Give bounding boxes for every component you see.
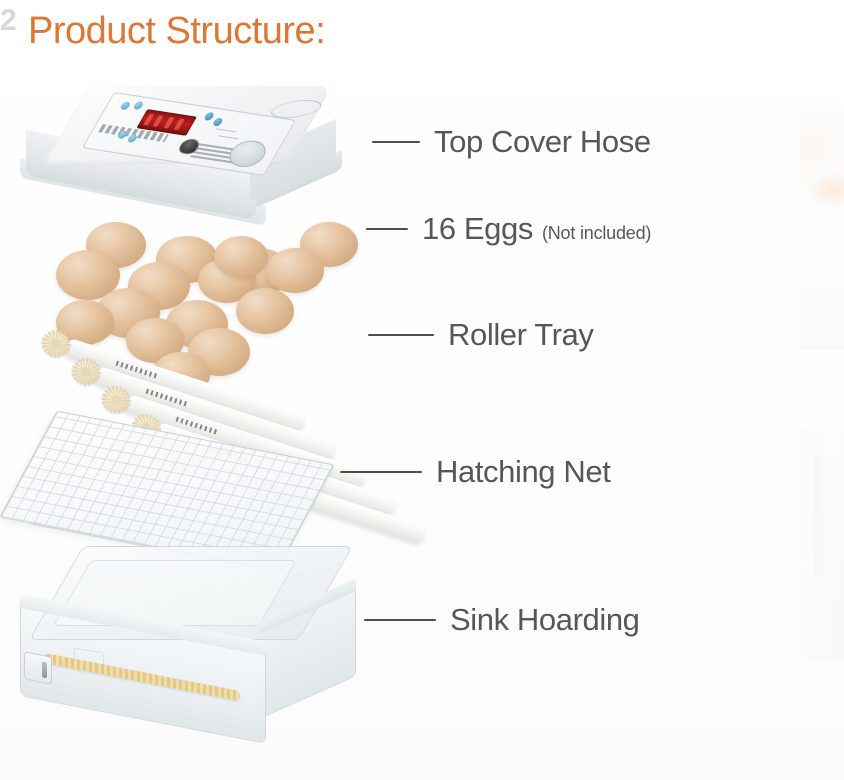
callout-label: Top Cover Hose <box>434 125 651 159</box>
egg <box>214 236 268 278</box>
callout-label: Roller Tray <box>448 318 593 352</box>
page-title: Product Structure: <box>28 8 325 54</box>
callout-eggs: 16 Eggs (Not included) <box>366 212 651 246</box>
tub-side-clip[interactable] <box>24 651 52 684</box>
viewing-window <box>224 138 272 169</box>
panel-button-3[interactable] <box>203 112 215 121</box>
panel-button-2[interactable] <box>132 101 144 110</box>
leader-line <box>368 334 434 336</box>
thumbnail-size-badge: 800x8 <box>802 641 838 656</box>
panel-button-4[interactable] <box>212 118 224 127</box>
callout-text: Roller Tray <box>448 318 593 352</box>
corner-artifact-glyph: 2 <box>0 4 18 38</box>
callout-text: Top Cover Hose <box>434 125 651 159</box>
thumbnail-shape <box>814 456 829 576</box>
top-cover-assembly <box>14 86 344 211</box>
callout-hatching-net: Hatching Net <box>340 455 610 489</box>
roller-bar <box>71 358 77 376</box>
callout-note: (Not included) <box>542 223 651 243</box>
egg <box>236 288 294 334</box>
cover-vent-icon <box>263 100 330 118</box>
sink-hoarding-assembly <box>20 546 360 768</box>
leader-line <box>366 228 408 230</box>
thumbnail-preview-top[interactable]: 800x8 <box>800 112 844 350</box>
egg <box>266 248 324 293</box>
callout-label: Hatching Net <box>436 455 610 489</box>
callout-text: Sink Hoarding <box>450 603 640 637</box>
callout-text: Hatching Net <box>436 455 610 489</box>
leader-line <box>372 141 420 143</box>
callout-top-cover-hose: Top Cover Hose <box>372 125 651 159</box>
roller-bar <box>41 330 47 348</box>
tub-hinge-pin <box>42 662 47 679</box>
callout-text: 16 Eggs (Not included) <box>422 212 651 246</box>
callout-label: Sink Hoarding <box>450 603 640 637</box>
product-structure-diagram: 2 Product Structure: 800x8 800x8 <box>0 0 844 780</box>
leader-line <box>364 619 436 621</box>
panel-button-1[interactable] <box>119 101 131 110</box>
callout-label: 16 Eggs <box>422 212 533 246</box>
leader-line <box>340 471 422 473</box>
callout-roller-tray: Roller Tray <box>368 318 593 352</box>
roller-bar <box>101 386 107 404</box>
thumbnail-preview-bottom[interactable]: 800x8 <box>800 430 844 660</box>
thumbnail-size-badge: 800x8 <box>802 331 838 346</box>
callout-sink-hoarding: Sink Hoarding <box>364 603 640 637</box>
